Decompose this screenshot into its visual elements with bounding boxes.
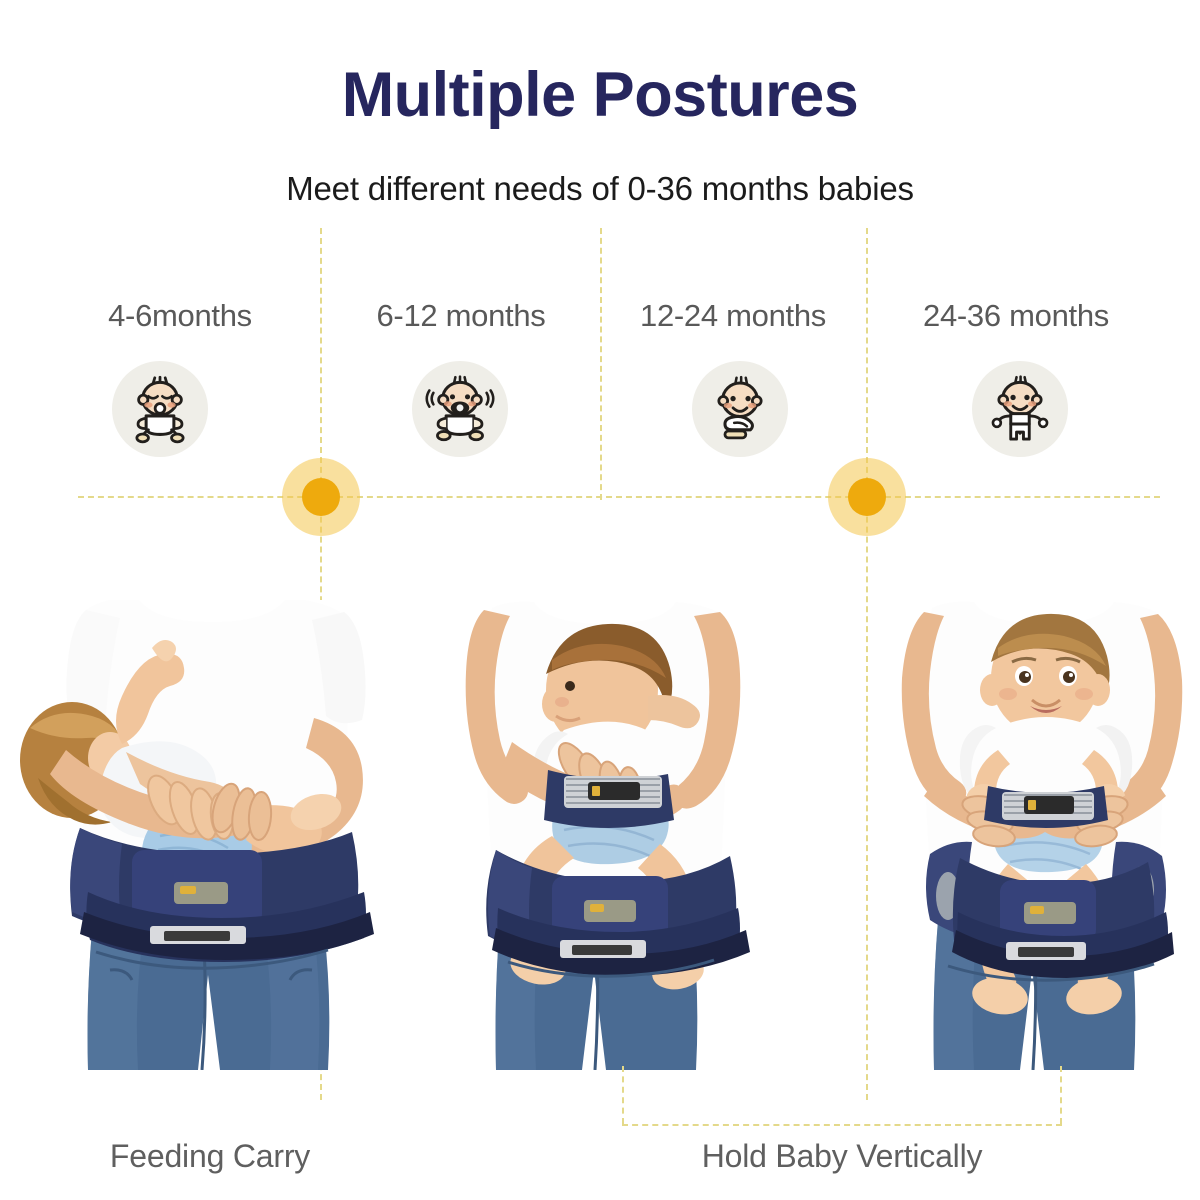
caption-feeding-carry: Feeding Carry [40, 1138, 380, 1175]
sleeping-baby-icon [112, 361, 208, 457]
age-label-3: 24-36 months [870, 298, 1162, 334]
timeline-dot-1 [282, 458, 360, 536]
age-label-2: 12-24 months [604, 298, 862, 334]
timeline-dot-core [302, 478, 340, 516]
timeline-dot-core [848, 478, 886, 516]
bracket-bottom-line [622, 1124, 1062, 1126]
divider-line-3 [866, 228, 868, 1100]
crawling-baby-icon [692, 361, 788, 457]
page-title: Multiple Postures [0, 62, 1200, 128]
baby-with-pacifier-icon [412, 361, 508, 457]
timeline-axis [78, 496, 1160, 498]
age-label-1: 6-12 months [325, 298, 597, 334]
age-label-0: 4-6months [40, 298, 320, 334]
front-facing-carry-photo [890, 600, 1200, 1070]
bracket-left-side [622, 1066, 624, 1124]
infographic-page: Multiple Postures Meet different needs o… [0, 0, 1200, 1200]
caption-hold-baby-vertically: Hold Baby Vertically [622, 1138, 1062, 1175]
divider-line-2 [600, 228, 602, 500]
page-subtitle: Meet different needs of 0-36 months babi… [0, 170, 1200, 208]
standing-baby-icon [972, 361, 1068, 457]
timeline-dot-2 [828, 458, 906, 536]
hip-carry-photo [452, 600, 762, 1070]
feeding-carry-photo [14, 600, 414, 1070]
bracket-right-side [1060, 1066, 1062, 1124]
